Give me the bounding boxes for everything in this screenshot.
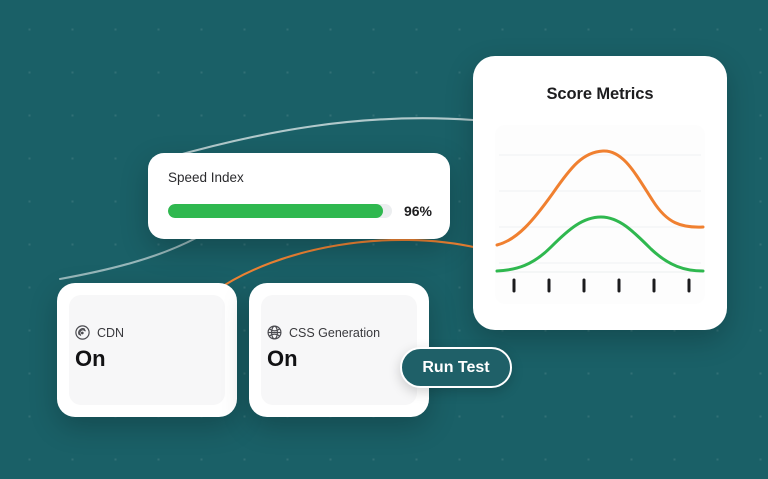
css-generation-card[interactable]: CSS Generation On [249,283,429,417]
score-metrics-card: Score Metrics [473,56,727,330]
page-title: Score Metrics [473,85,727,104]
css-generation-card-header: CSS Generation [267,325,380,340]
speed-index-card: Speed Index 96% [148,153,450,239]
globe-icon [267,325,282,340]
progress-fill [168,204,383,218]
chart-series-orange [497,151,703,245]
chart-gridlines [499,155,701,263]
chart-panel [495,125,705,304]
css-generation-label: CSS Generation [289,326,380,340]
cdn-card-header: CDN [75,325,124,340]
chart-x-ticks [514,280,689,291]
progress-track [168,204,392,218]
speed-index-label: Speed Index [168,170,244,185]
css-generation-state: On [267,346,298,372]
score-metrics-chart [495,125,705,304]
cdn-signal-icon [75,325,90,340]
progress-value-label: 96% [404,203,432,219]
canvas-background: Score Metrics [0,0,768,479]
run-test-button[interactable]: Run Test [400,347,512,388]
cdn-state: On [75,346,106,372]
cdn-card[interactable]: CDN On [57,283,237,417]
cdn-label: CDN [97,326,124,340]
speed-index-progress-row: 96% [168,203,432,219]
connector-curve-light-bottom [60,238,196,279]
